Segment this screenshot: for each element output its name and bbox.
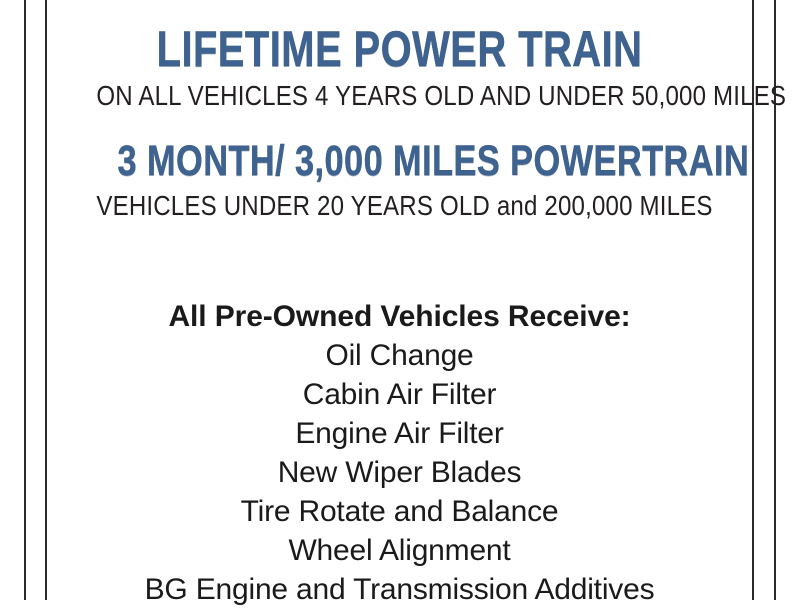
service-list-item: Engine Air Filter bbox=[47, 414, 752, 453]
three-month-powertrain-headline: 3 MONTH/ 3,000 MILES POWERTRAIN bbox=[118, 140, 682, 183]
left-outer-rule bbox=[24, 0, 26, 600]
service-list-item: New Wiper Blades bbox=[47, 453, 752, 492]
flyer-content: LIFETIME POWER TRAIN ON ALL VEHICLES 4 Y… bbox=[47, 0, 752, 600]
service-list-item: Oil Change bbox=[47, 336, 752, 375]
service-list-item: Wheel Alignment bbox=[47, 531, 752, 570]
service-list-item: Tire Rotate and Balance bbox=[47, 492, 752, 531]
warranty-flyer: LIFETIME POWER TRAIN ON ALL VEHICLES 4 Y… bbox=[0, 0, 800, 600]
three-month-powertrain-subline: VEHICLES UNDER 20 YEARS OLD and 200,000 … bbox=[96, 192, 702, 220]
services-section: All Pre-Owned Vehicles Receive: Oil Chan… bbox=[47, 298, 752, 609]
lifetime-powertrain-subline: ON ALL VEHICLES 4 YEARS OLD AND UNDER 50… bbox=[96, 82, 702, 110]
service-list-item: Cabin Air Filter bbox=[47, 375, 752, 414]
service-list-item: BG Engine and Transmission Additives bbox=[47, 570, 752, 609]
services-list: Oil ChangeCabin Air FilterEngine Air Fil… bbox=[47, 336, 752, 609]
services-section-title: All Pre-Owned Vehicles Receive: bbox=[47, 298, 752, 336]
lifetime-powertrain-headline: LIFETIME POWER TRAIN bbox=[118, 24, 682, 74]
